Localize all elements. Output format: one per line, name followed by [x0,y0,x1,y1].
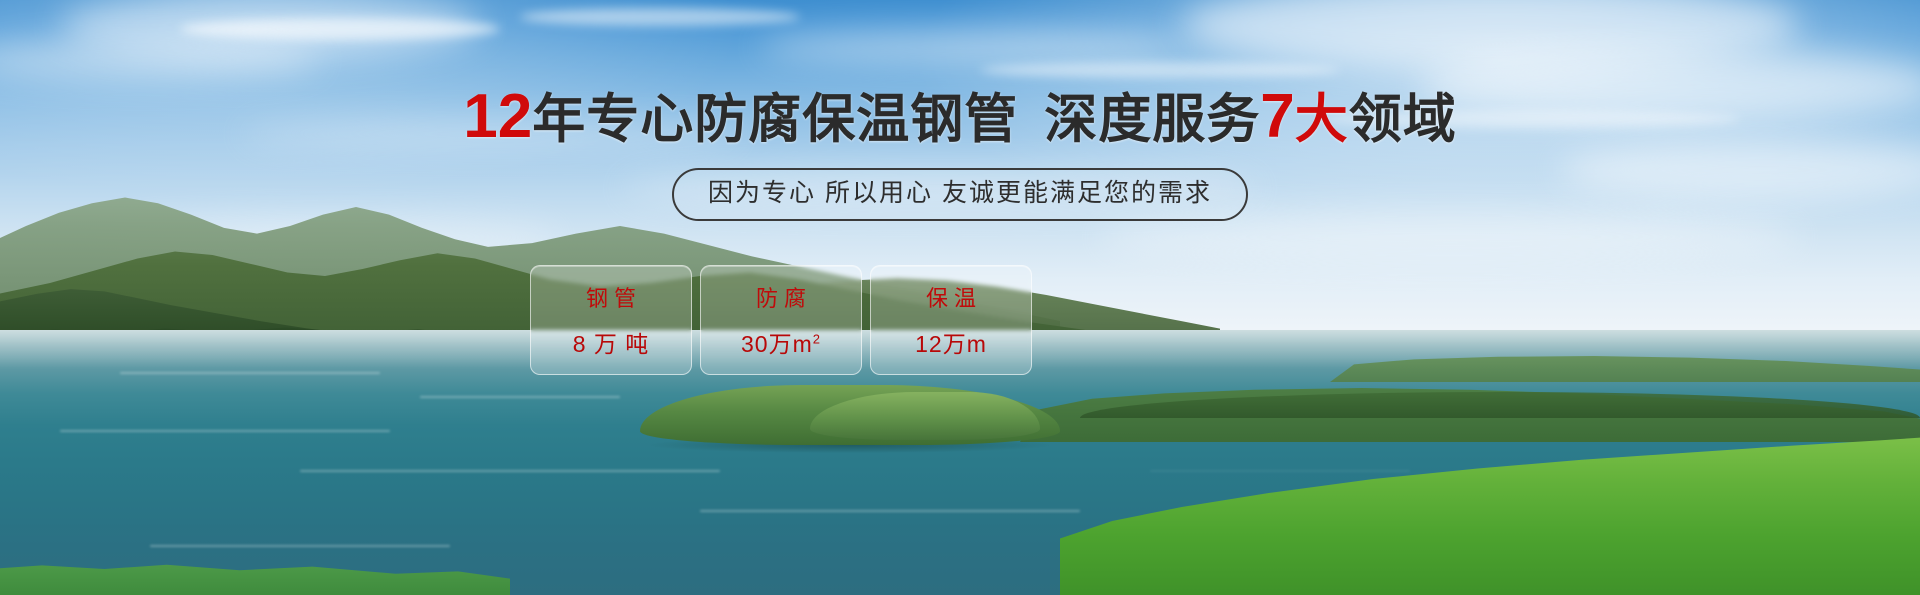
stat-card-anticorrosion-unit-sup: 2 [813,331,821,346]
headline-text-2: 深度服务 [1044,90,1260,149]
subtitle-container: 因为专心 所以用心 友诚更能满足您的需求 [0,168,1920,221]
headline-red-char: 大 [1295,90,1349,149]
headline-text-1: 年专心防腐保温钢管 [532,90,1018,149]
water-ripple [60,430,390,432]
cloud [520,8,800,26]
headline-fields-number: 7 [1260,82,1294,151]
cloud [180,18,500,40]
stat-cards: 钢管 8 万 吨 防腐 30万m2 保温 12万m [530,265,1032,375]
stat-card-anticorrosion-title: 防腐 [750,281,812,313]
stat-card-insulation-title: 保温 [920,281,982,313]
stat-card-pipe[interactable]: 钢管 8 万 吨 [530,265,692,375]
headline: 12年专心防腐保温钢管深度服务7大领域 [0,86,1920,148]
subtitle-pill: 因为专心 所以用心 友诚更能满足您的需求 [672,168,1248,221]
headline-text-3: 领域 [1349,90,1457,149]
water-ripple [1150,470,1410,472]
water-ripple [700,510,1080,512]
stat-card-insulation-value: 12万m [915,325,987,359]
stat-card-pipe-title: 钢管 [580,281,642,313]
headline-years-number: 12 [463,82,532,151]
water-ripple [420,396,620,398]
stat-card-insulation[interactable]: 保温 12万m [870,265,1032,375]
stat-card-anticorrosion-value: 30万m2 [741,325,821,359]
promo-banner: 12年专心防腐保温钢管深度服务7大领域 因为专心 所以用心 友诚更能满足您的需求… [0,0,1920,595]
water-ripple [120,372,380,374]
water-ripple [150,545,450,547]
stat-card-anticorrosion[interactable]: 防腐 30万m2 [700,265,862,375]
cloud [980,62,1340,78]
water-ripple [300,470,720,472]
cloud [760,30,1180,64]
stat-card-pipe-value: 8 万 吨 [573,325,650,359]
